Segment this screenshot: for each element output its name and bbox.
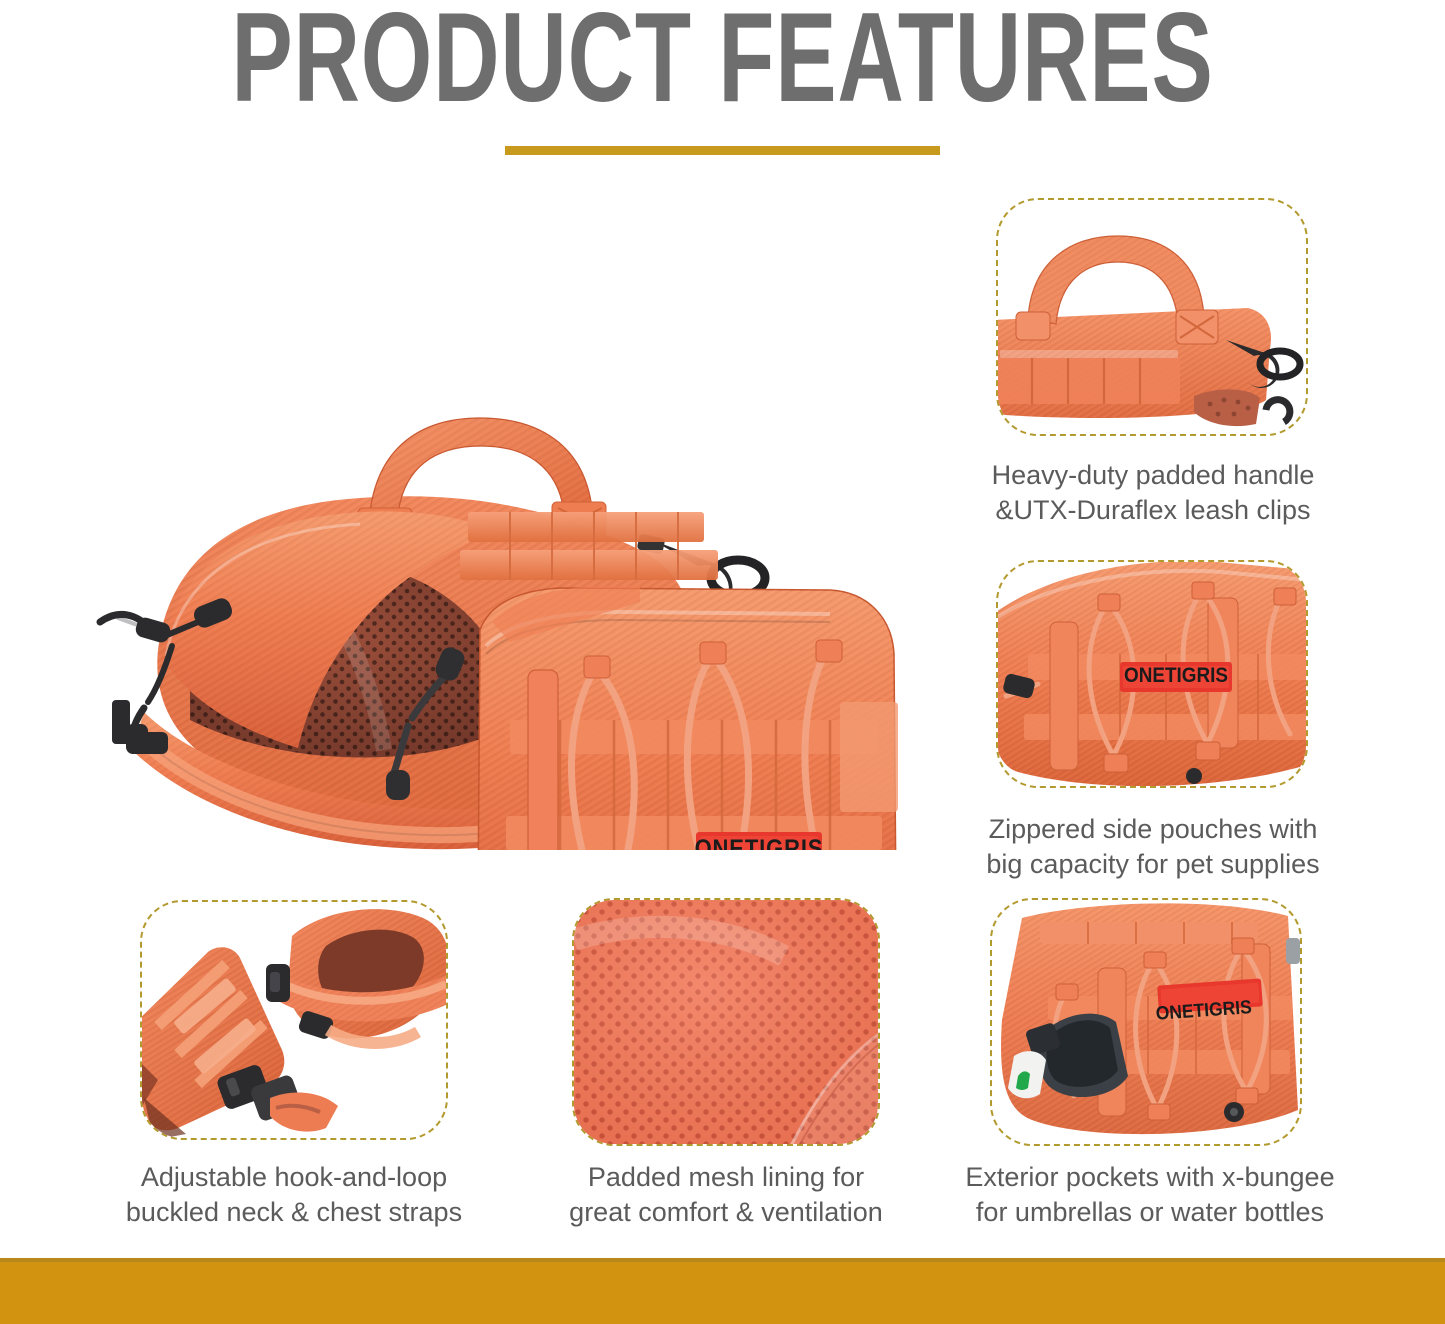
caption-line: Padded mesh lining for [524,1160,928,1195]
feature-image-exterior-pockets: ONETIGRIS [992,900,1300,1144]
caption-line: Heavy-duty padded handle [952,458,1354,493]
feature-caption-padded-mesh: Padded mesh lining for great comfort & v… [524,1160,928,1229]
feature-caption-exterior-pockets: Exterior pockets with x-bungee for umbre… [944,1160,1356,1229]
caption-line: for umbrellas or water bottles [944,1195,1356,1230]
caption-line: Exterior pockets with x-bungee [944,1160,1356,1195]
hero-product-image: ONETIGRIS [40,250,920,850]
caption-line: Adjustable hook-and-loop [92,1160,496,1195]
feature-panel-exterior-pockets: ONETIGRIS [990,898,1302,1146]
caption-line: great comfort & ventilation [524,1195,928,1230]
caption-line: Zippered side pouches with [952,812,1354,847]
feature-panel-padded-mesh [572,898,880,1146]
feature-panel-padded-handle [996,198,1308,436]
feature-caption-padded-handle: Heavy-duty padded handle &UTX-Duraflex l… [952,458,1354,527]
feature-caption-adjustable-straps: Adjustable hook-and-loop buckled neck & … [92,1160,496,1229]
hero-illustration: ONETIGRIS [40,250,920,850]
svg-text:ONETIGRIS: ONETIGRIS [695,835,824,850]
page-title: PRODUCT FEATURES [159,0,1286,121]
caption-line: buckled neck & chest straps [92,1195,496,1230]
feature-caption-zippered-pouches: Zippered side pouches with big capacity … [952,812,1354,881]
title-underline-rule [505,146,940,155]
svg-text:ONETIGRIS: ONETIGRIS [1124,664,1228,687]
brand-label-hero: ONETIGRIS [695,832,824,850]
feature-panel-adjustable-straps [140,900,448,1140]
feature-panel-zippered-pouches: ONETIGRIS [996,560,1308,788]
pouch-left-strap [528,670,558,850]
page-header: PRODUCT FEATURES [0,0,1445,180]
feature-image-padded-mesh [574,900,878,1144]
feature-image-padded-handle [998,200,1306,434]
caption-line: &UTX-Duraflex leash clips [952,493,1354,528]
feature-image-adjustable-straps [142,902,446,1138]
feature-image-zippered-pouches: ONETIGRIS [998,562,1306,786]
caption-line: big capacity for pet supplies [952,847,1354,882]
side-release-buckle-2 [266,964,290,1002]
bottom-accent-bar [0,1258,1445,1324]
